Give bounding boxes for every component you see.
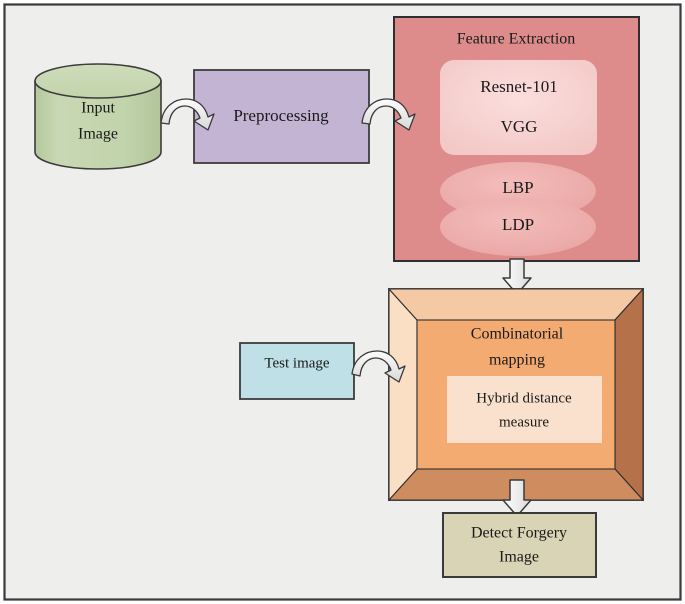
- input-image-label-line2: Image: [78, 126, 118, 143]
- node-combinatorial-mapping[interactable]: Combinatorial mapping Hybrid distance me…: [389, 289, 643, 500]
- cnn-group-rounded-rect: [440, 60, 597, 155]
- test-image-label: Test image: [264, 355, 330, 371]
- hybrid-distance-label-line1: Hybrid distance: [476, 390, 572, 406]
- ldp-label: LDP: [502, 215, 534, 234]
- node-test-image[interactable]: Test image: [240, 343, 354, 399]
- input-image-label-line1: Input: [81, 100, 115, 117]
- preprocessing-label: Preprocessing: [233, 106, 329, 125]
- detect-forgery-label-line1: Detect Forgery: [471, 525, 567, 542]
- feature-extraction-label: Feature Extraction: [457, 31, 576, 48]
- diagram-canvas: Feature Extraction Resnet-101 VGG LBP LD…: [0, 0, 685, 604]
- node-input-image[interactable]: Input Image: [35, 64, 161, 169]
- detect-forgery-label-line2: Image: [499, 549, 539, 566]
- node-cnn-group[interactable]: Resnet-101 VGG: [440, 60, 597, 155]
- resnet-label: Resnet-101: [480, 77, 557, 96]
- combinatorial-frame-bevel-top: [389, 289, 643, 320]
- combinatorial-label-line2: mapping: [489, 352, 545, 369]
- node-preprocessing[interactable]: Preprocessing: [194, 70, 369, 163]
- vgg-label: VGG: [501, 117, 538, 136]
- input-image-cylinder-top: [35, 64, 161, 98]
- combinatorial-frame-bevel-right: [615, 289, 643, 500]
- hybrid-distance-label-line2: measure: [499, 414, 549, 430]
- node-hybrid-distance-measure[interactable]: Hybrid distance measure: [447, 376, 602, 443]
- combinatorial-frame-bevel-left: [389, 289, 417, 500]
- combinatorial-label-line1: Combinatorial: [471, 326, 564, 343]
- lbp-label: LBP: [502, 178, 533, 197]
- node-feature-extraction[interactable]: Feature Extraction Resnet-101 VGG LBP LD…: [394, 17, 639, 261]
- detect-forgery-box: [443, 513, 596, 577]
- hybrid-distance-box: [447, 376, 602, 443]
- node-detect-forgery[interactable]: Detect Forgery Image: [443, 513, 596, 577]
- node-ldp[interactable]: LDP: [440, 198, 596, 256]
- flowchart-svg: Feature Extraction Resnet-101 VGG LBP LD…: [0, 0, 685, 604]
